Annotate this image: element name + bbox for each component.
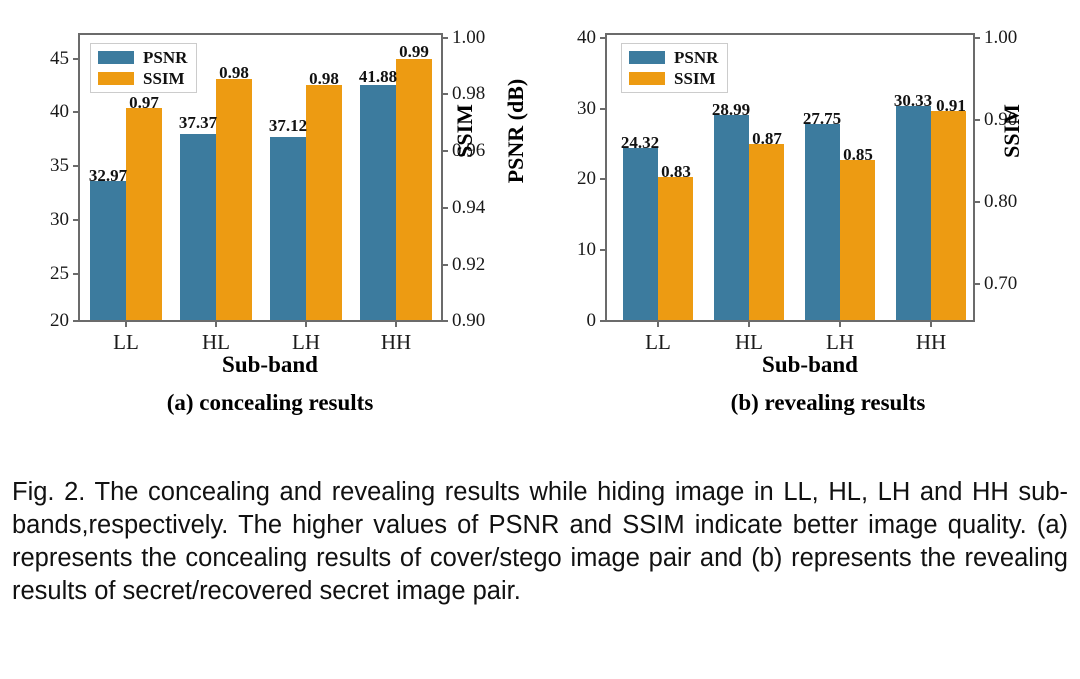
ytick-label: 20 — [577, 169, 596, 188]
legend-item-psnr[interactable]: PSNR — [629, 49, 718, 66]
figure-panels: 45 40 35 30 25 20 1.00 0.98 0.96 — [0, 0, 1080, 430]
x-axis-title-a: Sub-band — [0, 352, 540, 378]
bar-value-label: 0.99 — [399, 42, 429, 62]
legend-item-ssim[interactable]: SSIM — [98, 70, 187, 87]
bar-psnr-hl[interactable] — [180, 134, 216, 320]
subcaption-b: (b) revealing results — [540, 390, 1080, 416]
bar-value-label: 0.83 — [661, 162, 691, 182]
bar-value-label: 28.99 — [712, 100, 750, 120]
legend-label: PSNR — [143, 49, 187, 66]
ytick2-label: 0.80 — [984, 192, 1017, 211]
bar-ssim-ll[interactable] — [658, 177, 693, 320]
ytick-label: 20 — [50, 311, 69, 330]
bar-value-label: 27.75 — [803, 109, 841, 129]
bar-value-label: 0.85 — [843, 145, 873, 165]
legend-swatch-psnr-icon — [629, 51, 665, 64]
bar-value-label: 0.91 — [936, 96, 966, 116]
bar-ssim-hh[interactable] — [396, 59, 432, 320]
bar-ssim-lh[interactable] — [306, 85, 342, 320]
plot-area-b: 40 30 20 10 0 1.00 0.90 0.80 0.70 — [605, 33, 975, 322]
bar-psnr-hl[interactable] — [714, 115, 749, 320]
ytick-label: 10 — [577, 240, 596, 259]
bar-value-label: 0.87 — [752, 129, 782, 149]
ytick2-label: 0.70 — [984, 274, 1017, 293]
bar-psnr-lh[interactable] — [805, 124, 840, 320]
bar-value-label: 0.98 — [309, 69, 339, 89]
legend-item-psnr[interactable]: PSNR — [98, 49, 187, 66]
bar-value-label: 41.88 — [359, 67, 397, 87]
y-axis-title-left-b: PSNR (dB) — [503, 71, 529, 191]
legend-a[interactable]: PSNR SSIM — [90, 43, 197, 93]
bar-value-label: 32.97 — [89, 166, 127, 186]
x-axis-title-b: Sub-band — [540, 352, 1080, 378]
bar-psnr-hh[interactable] — [896, 106, 931, 320]
ytick-label: 40 — [577, 28, 596, 47]
ytick2-label: 0.94 — [452, 198, 485, 217]
y-axis-title-right-b: SSIM — [999, 71, 1025, 191]
ytick2-label: 0.90 — [452, 311, 485, 330]
ytick-label: 35 — [50, 156, 69, 175]
bar-ssim-lh[interactable] — [840, 160, 875, 320]
bar-value-label: 0.97 — [129, 93, 159, 113]
bar-value-label: 37.37 — [179, 113, 217, 133]
ytick2-label: 1.00 — [984, 28, 1017, 47]
bar-ssim-ll[interactable] — [126, 108, 162, 320]
bar-psnr-hh[interactable] — [360, 85, 396, 320]
panel-b-revealing: 40 30 20 10 0 1.00 0.90 0.80 0.70 — [540, 0, 1080, 430]
ytick2-label: 1.00 — [452, 28, 485, 47]
legend-swatch-ssim-icon — [629, 72, 665, 85]
legend-swatch-ssim-icon — [98, 72, 134, 85]
bar-ssim-hl[interactable] — [749, 144, 784, 320]
bar-value-label: 0.98 — [219, 63, 249, 83]
y-axis-title-right-a: SSIM — [452, 71, 478, 191]
bar-ssim-hl[interactable] — [216, 79, 252, 320]
legend-label: SSIM — [143, 70, 185, 87]
subcaption-a: (a) concealing results — [0, 390, 540, 416]
plot-area-a: 45 40 35 30 25 20 1.00 0.98 0.96 — [78, 33, 443, 322]
bar-value-label: 37.12 — [269, 116, 307, 136]
bar-value-label: 30.33 — [894, 91, 932, 111]
legend-swatch-psnr-icon — [98, 51, 134, 64]
y-axis-title-left-a: PSNR (dB) — [0, 71, 1, 191]
bar-psnr-ll[interactable] — [90, 181, 126, 320]
bar-value-label: 24.32 — [621, 133, 659, 153]
ytick-label: 25 — [50, 264, 69, 283]
bar-ssim-hh[interactable] — [931, 111, 966, 320]
legend-item-ssim[interactable]: SSIM — [629, 70, 718, 87]
ytick-label: 40 — [50, 102, 69, 121]
ytick-label: 30 — [50, 210, 69, 229]
legend-label: PSNR — [674, 49, 718, 66]
ytick-label: 45 — [50, 49, 69, 68]
legend-label: SSIM — [674, 70, 716, 87]
bar-psnr-lh[interactable] — [270, 137, 306, 320]
bar-psnr-ll[interactable] — [623, 148, 658, 320]
ytick-label: 0 — [587, 311, 597, 330]
panel-a-concealing: 45 40 35 30 25 20 1.00 0.98 0.96 — [0, 0, 540, 430]
ytick-label: 30 — [577, 99, 596, 118]
legend-b[interactable]: PSNR SSIM — [621, 43, 728, 93]
ytick2-label: 0.92 — [452, 255, 485, 274]
figure-caption: Fig. 2. The concealing and revealing res… — [12, 476, 1068, 608]
